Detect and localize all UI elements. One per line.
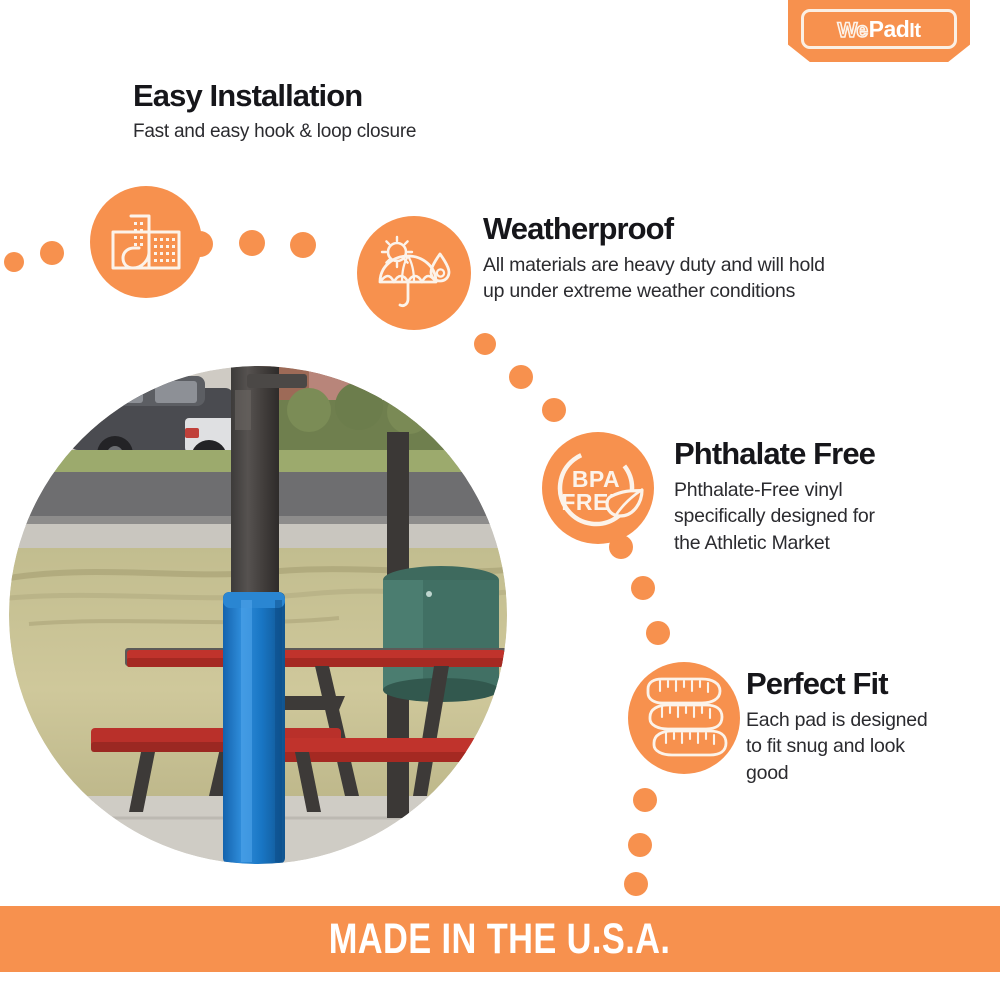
path-dot bbox=[542, 398, 566, 422]
feature-body-weatherproof: All materials are heavy duty and will ho… bbox=[483, 252, 943, 306]
bpa-free-leaf-icon: BPA FREE bbox=[542, 432, 654, 544]
path-dot bbox=[474, 333, 496, 355]
brand-logo-text: WePadIt bbox=[837, 18, 920, 41]
brand-logo-frame: WePadIt bbox=[801, 9, 957, 49]
made-in-usa-banner: MADE IN THE U.S.A. bbox=[0, 906, 1000, 972]
feature-title-perfect-fit: Perfect Fit bbox=[746, 668, 986, 701]
path-dot bbox=[624, 872, 648, 896]
feature-phthalate-free: Phthalate Free Phthalate-Free vinyl spec… bbox=[674, 438, 974, 557]
made-in-usa-text: MADE IN THE U.S.A. bbox=[329, 915, 671, 964]
logo-word-pad: Pad bbox=[869, 18, 910, 41]
infographic-canvas: WePadIt Easy Installation Fast and easy … bbox=[0, 0, 1000, 987]
logo-word-it: It bbox=[909, 21, 920, 41]
path-dot bbox=[290, 232, 316, 258]
path-dot bbox=[4, 252, 24, 272]
path-dot bbox=[633, 788, 657, 812]
feature-body-perfect-fit: Each pad is designed to fit snug and loo… bbox=[746, 707, 986, 788]
feature-perfect-fit: Perfect Fit Each pad is designed to fit … bbox=[746, 668, 986, 787]
logo-word-we: We bbox=[837, 20, 867, 41]
path-dot bbox=[239, 230, 265, 256]
feature-title-easy-installation: Easy Installation bbox=[133, 80, 563, 113]
product-photo bbox=[9, 366, 507, 864]
brand-logo-badge: WePadIt bbox=[788, 0, 970, 62]
feature-title-phthalate-free: Phthalate Free bbox=[674, 438, 974, 471]
path-dot bbox=[631, 576, 655, 600]
feature-easy-installation: Easy Installation Fast and easy hook & l… bbox=[133, 80, 563, 145]
feature-title-weatherproof: Weatherproof bbox=[483, 213, 943, 246]
feature-body-easy-installation: Fast and easy hook & loop closure bbox=[133, 119, 563, 145]
feature-body-phthalate-free: Phthalate-Free vinyl specifically design… bbox=[674, 477, 974, 558]
sun-umbrella-raindrop-icon bbox=[357, 216, 471, 330]
hook-loop-closure-icon bbox=[90, 186, 202, 298]
measuring-tape-icon bbox=[628, 662, 740, 774]
path-dot bbox=[646, 621, 670, 645]
feature-weatherproof: Weatherproof All materials are heavy dut… bbox=[483, 213, 943, 305]
path-dot bbox=[628, 833, 652, 857]
path-dot bbox=[509, 365, 533, 389]
path-dot bbox=[40, 241, 64, 265]
